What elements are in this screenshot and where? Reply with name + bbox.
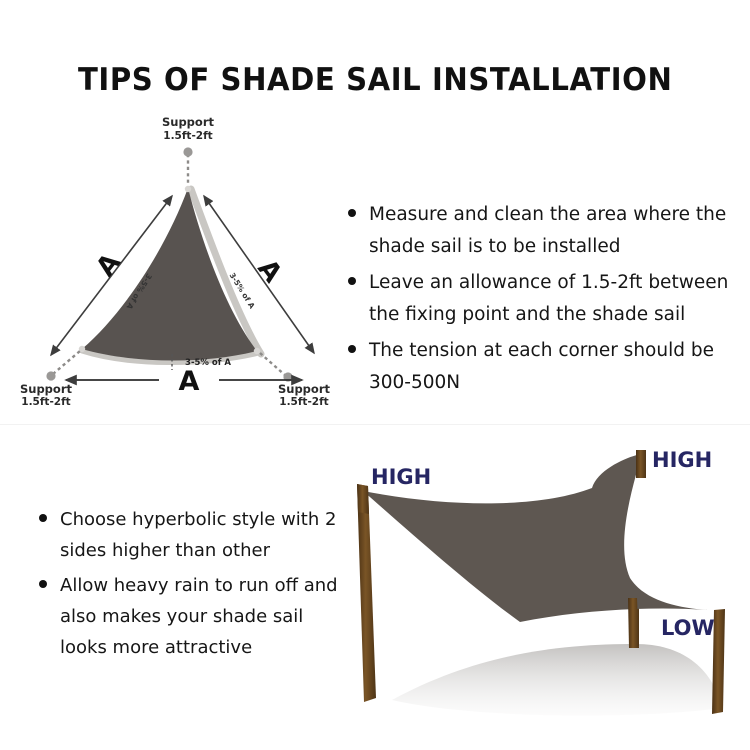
list-item-text: Allow heavy rain to run off and also mak… [60, 570, 348, 663]
post-left [357, 484, 376, 702]
section-divider [0, 424, 750, 425]
bottom-right-support-label: Support [278, 382, 331, 396]
right-edge-length-label: A [251, 254, 287, 288]
list-item-text: The tension at each corner should be 300… [369, 335, 737, 399]
high-right-label: HIGH [652, 448, 712, 472]
bullet-dot-icon [39, 514, 47, 522]
list-item: Choose hyperbolic style with 2 sides hig… [38, 504, 348, 566]
bullet-dot-icon [348, 345, 356, 353]
triangle-shade-sail-diagram: Support 1.5ft-2ft Support 1.5ft-2ft Supp… [14, 108, 362, 413]
list-item-text: Measure and clean the area where the sha… [369, 199, 737, 263]
bottom-left-support-distance: 1.5ft-2ft [21, 396, 70, 408]
list-item: Leave an allowance of 1.5-2ft between th… [347, 267, 737, 331]
hyperbolic-sail-illustration: HIGH HIGH LOW [330, 428, 750, 750]
list-item-text: Choose hyperbolic style with 2 sides hig… [60, 504, 348, 566]
post-left-top [357, 484, 369, 514]
page-title: TIPS OF SHADE SAIL INSTALLATION [78, 62, 672, 98]
bottom-edge-curve-label: 3-5% of A [185, 358, 231, 368]
top-support-label: Support [162, 115, 215, 129]
list-item: The tension at each corner should be 300… [347, 335, 737, 399]
sail-corner-top [185, 186, 191, 192]
infographic-page: TIPS OF SHADE SAIL INSTALLATION [0, 0, 750, 750]
list-item: Allow heavy rain to run off and also mak… [38, 570, 348, 663]
low-label: LOW [661, 616, 715, 640]
bullet-dot-icon [348, 209, 356, 217]
bottom-left-support-label: Support [20, 382, 73, 396]
post-right-top [636, 450, 646, 478]
top-support-distance: 1.5ft-2ft [163, 130, 212, 142]
left-edge-length-label: A [91, 248, 127, 282]
bottom-right-support-distance: 1.5ft-2ft [279, 396, 328, 408]
tips-list-top-right: Measure and clean the area where the sha… [347, 199, 737, 403]
bullet-dot-icon [39, 580, 47, 588]
list-item: Measure and clean the area where the sha… [347, 199, 737, 263]
bottom-edge-length-label: A [179, 366, 200, 397]
tips-list-bottom-left: Choose hyperbolic style with 2 sides hig… [38, 504, 348, 667]
high-left-label: HIGH [371, 465, 431, 489]
title-bar: TIPS OF SHADE SAIL INSTALLATION [0, 62, 750, 98]
ground-shadow [392, 644, 722, 716]
bullet-dot-icon [348, 277, 356, 285]
sail-corner-bottom-right [254, 348, 260, 354]
list-item-text: Leave an allowance of 1.5-2ft between th… [369, 267, 737, 331]
